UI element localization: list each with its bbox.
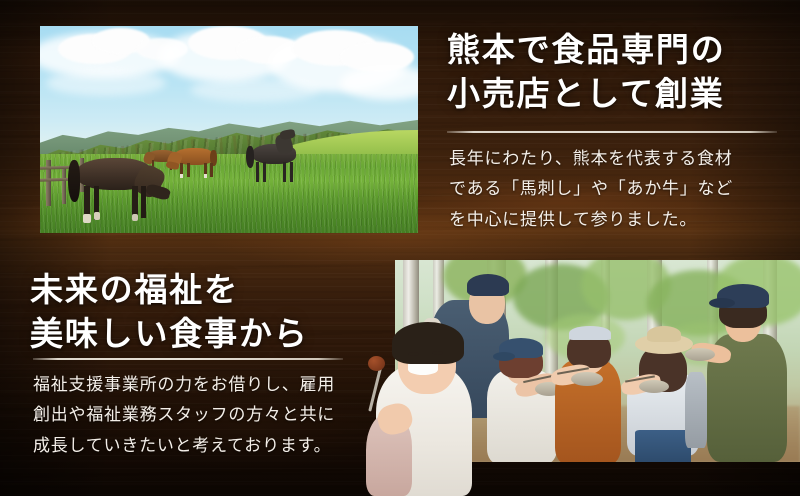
promotional-banner: 熊本で食品専門の 小売店として創業 長年にわたり、熊本を代表する食材 である「馬… <box>0 0 800 496</box>
welfare-heading: 未来の福祉を 美味しい食事から <box>30 268 309 356</box>
boy-hair <box>392 322 464 364</box>
origin-body-text: 長年にわたり、熊本を代表する食材 である「馬刺し」や「あか牛」など を中心に提供… <box>449 144 733 235</box>
boy-eye <box>408 352 419 356</box>
boy-eye <box>432 351 443 355</box>
welfare-body-text: 福祉支援事業所の力をお借りし、雇用 創出や福祉業務スタッフの方々と共に 成長して… <box>33 370 335 461</box>
boy-smile <box>408 364 438 375</box>
welfare-divider <box>33 358 343 360</box>
boy-cutout-foreground <box>352 322 472 496</box>
cloud <box>46 70 166 96</box>
origin-heading: 熊本で食品専門の 小売店として創業 <box>447 28 726 116</box>
fence-post <box>62 166 66 204</box>
cloud <box>190 78 320 102</box>
horses-pasture-photo <box>40 26 418 233</box>
origin-divider <box>447 131 777 133</box>
skewered-food <box>368 356 385 371</box>
